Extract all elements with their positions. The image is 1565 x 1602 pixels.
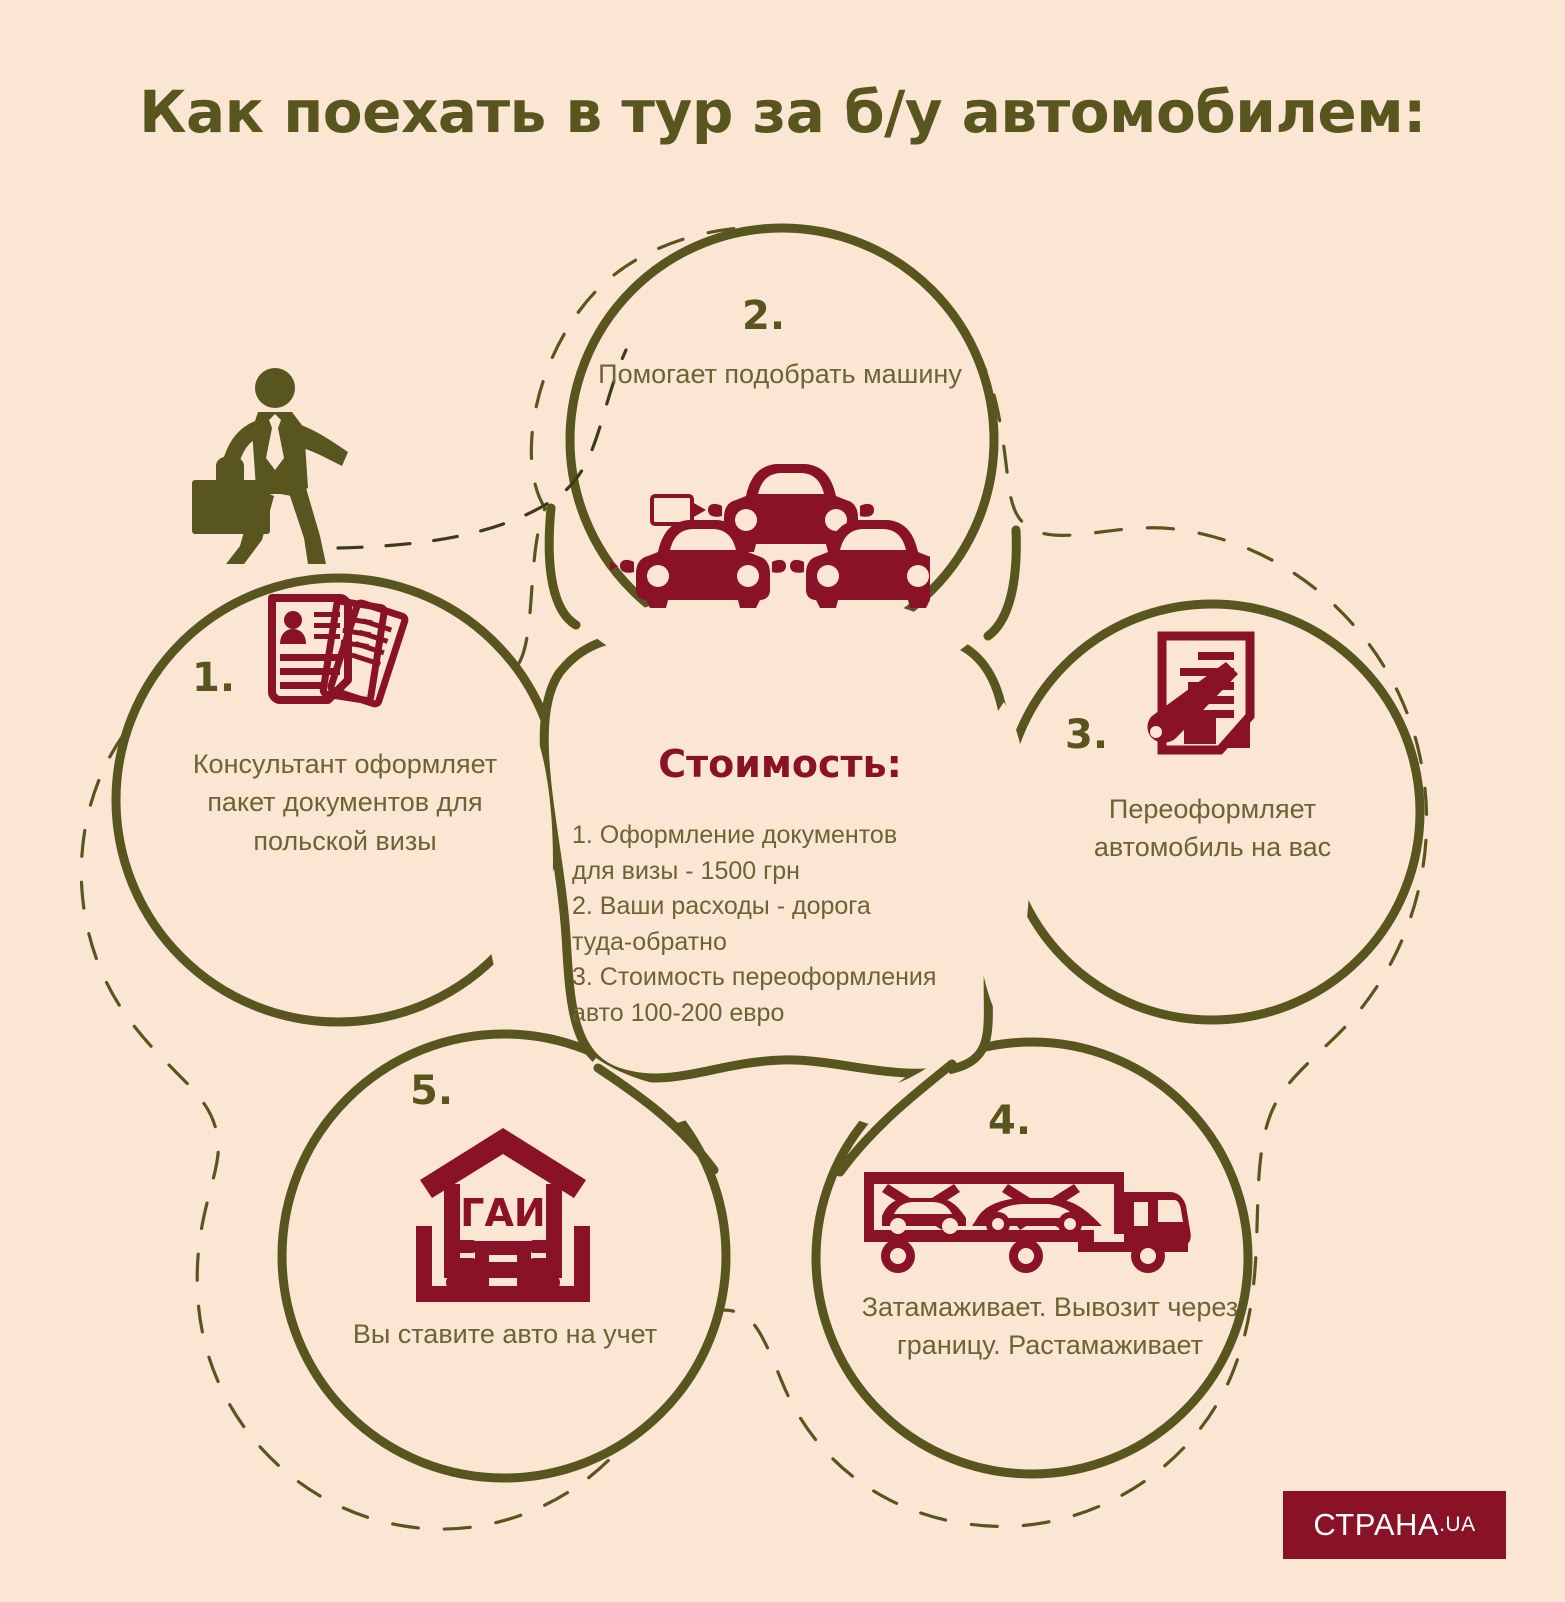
cost-line: для визы - 1500 грн — [572, 854, 997, 890]
gai-label: ГАИ — [460, 1191, 545, 1235]
step-5-text: Вы ставите авто на учет — [340, 1315, 670, 1353]
logo-tld-text: .UA — [1439, 1513, 1476, 1537]
cost-line: 3. Стоимость переоформления — [572, 960, 997, 996]
document-with-pen-icon — [1138, 630, 1268, 765]
businessman-with-briefcase-icon — [180, 368, 390, 573]
neck-stroke-top-left — [549, 508, 576, 625]
step-2-number: 2. — [742, 293, 785, 339]
step-3-text: Переоформляет автомобиль на вас — [1040, 790, 1385, 867]
step-5-number: 5. — [410, 1068, 453, 1114]
step-4-text: Затамаживает. Вывозит через границу. Рас… — [860, 1288, 1240, 1365]
strana-ua-logo[interactable]: СТРАНА.UA — [1283, 1491, 1506, 1559]
logo-main-text: СТРАНА — [1313, 1507, 1439, 1543]
cost-line: туда-обратно — [572, 925, 997, 961]
neck-stroke-top-right — [988, 530, 1016, 636]
step-2-text: Помогает подобрать машину — [570, 355, 990, 393]
cost-line: авто 100-200 евро — [572, 996, 997, 1032]
step-4-number: 4. — [988, 1098, 1031, 1144]
documents-passport-icon — [262, 592, 412, 727]
cost-heading: Стоимость: — [560, 742, 1000, 786]
step-1-text: Консультант оформляет пакет документов д… — [165, 745, 525, 860]
infographic-canvas: Как поехать в тур за б/у автомобилем: — [0, 0, 1565, 1602]
step-3-number: 3. — [1065, 712, 1108, 758]
cost-line: 2. Ваши расходы - дорога — [572, 889, 997, 925]
cost-line: 1. Оформление документов — [572, 818, 997, 854]
cost-list: 1. Оформление документов для визы - 1500… — [572, 818, 997, 1031]
gai-building-icon: ГАИ — [408, 1122, 598, 1312]
cars-with-price-tags-icon — [610, 450, 930, 615]
step-1-number: 1. — [192, 655, 235, 701]
car-carrier-truck-icon — [858, 1168, 1198, 1283]
